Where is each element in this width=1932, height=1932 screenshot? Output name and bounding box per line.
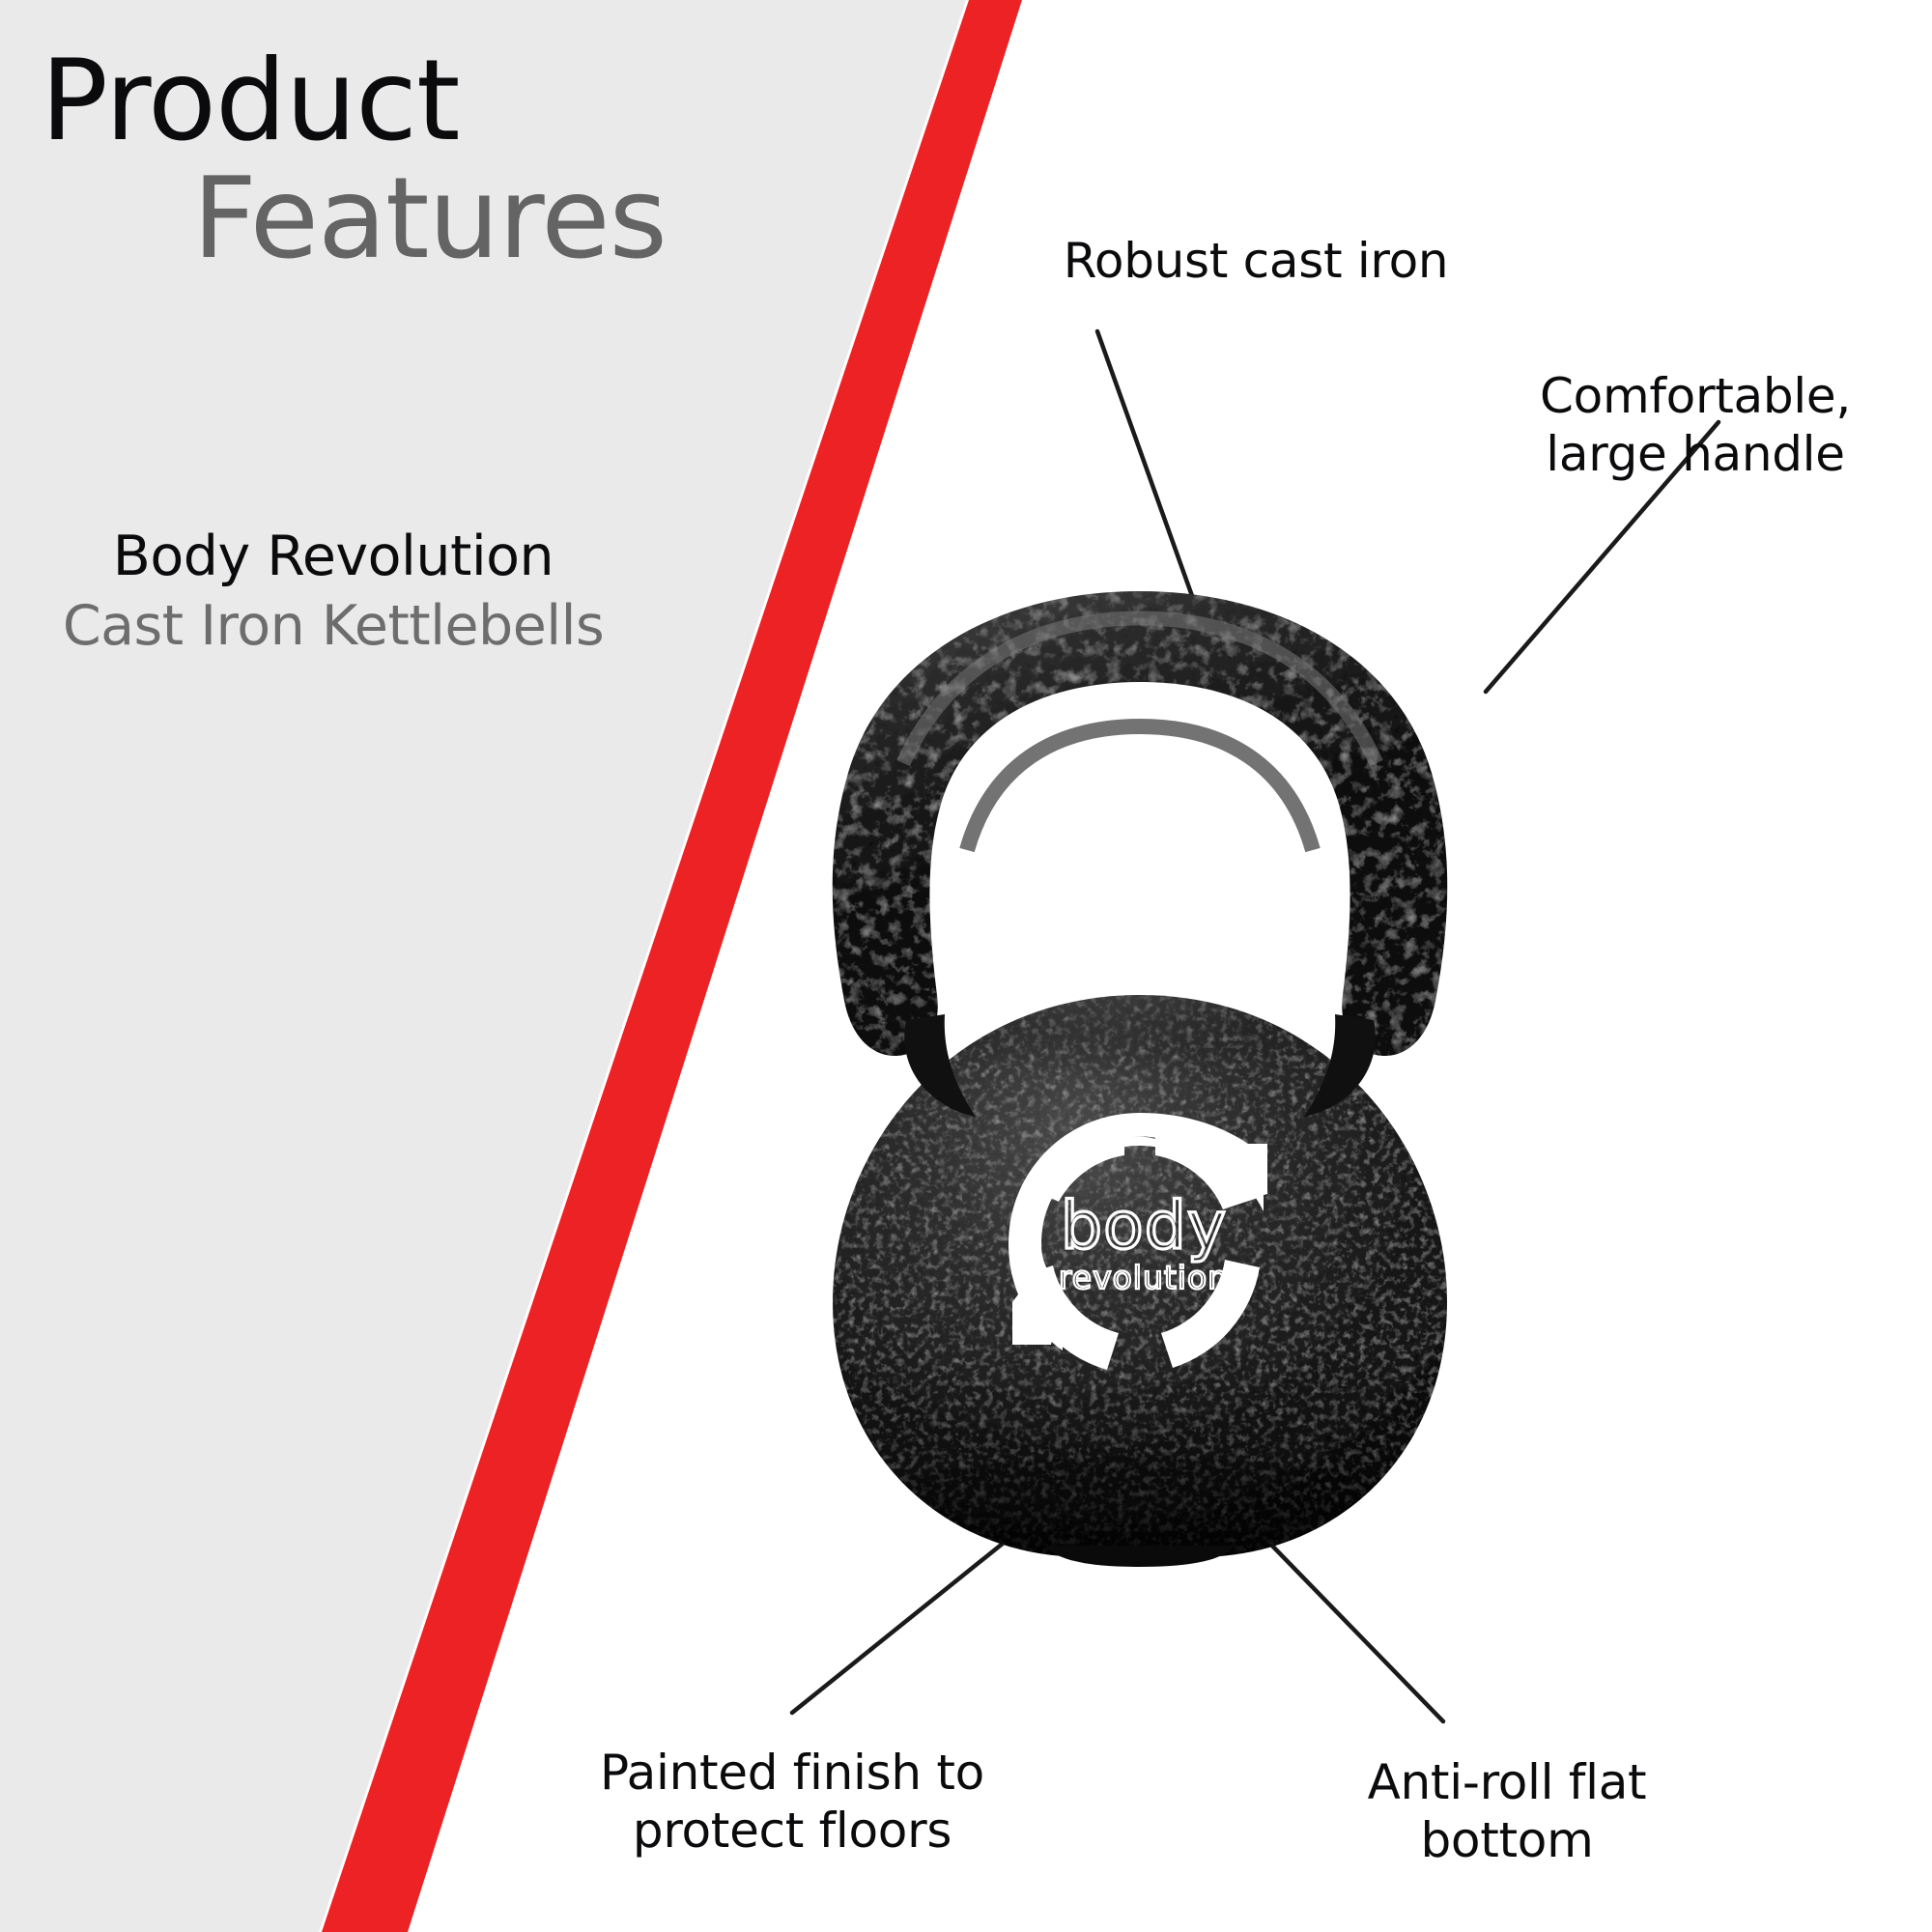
- brand-block: Body Revolution Cast Iron Kettlebells: [0, 526, 667, 658]
- callout-anti-roll-flat-bottom: Anti-roll flat bottom: [1265, 1753, 1748, 1869]
- logo-word-revolution: revolution: [1059, 1259, 1229, 1296]
- callout-robust-line1: Robust cast iron: [1000, 232, 1512, 290]
- callout-painted-finish: Painted finish to protect floors: [512, 1744, 1072, 1860]
- leader-line-robust: [1097, 331, 1201, 620]
- leader-lines: [792, 331, 1719, 1721]
- brand-product-line: Cast Iron Kettlebells: [0, 596, 667, 658]
- callout-robust-cast-iron: Robust cast iron: [1000, 232, 1512, 290]
- leader-line-antiroll: [1233, 1505, 1443, 1721]
- page-title: Product Features: [0, 44, 676, 277]
- kettlebell-graphic: body revolution: [833, 591, 1448, 1567]
- page-title-line1: Product: [0, 44, 676, 158]
- brand-name: Body Revolution: [0, 526, 667, 588]
- callout-antiroll-line1: Anti-roll flat: [1265, 1753, 1748, 1811]
- callout-handle-line1: Comfortable,: [1468, 367, 1922, 425]
- callout-painted-line2: protect floors: [512, 1802, 1072, 1860]
- page-title-line2: Features: [0, 162, 676, 276]
- callout-handle-line2: large handle: [1468, 425, 1922, 483]
- logo-word-body: body: [1061, 1188, 1227, 1264]
- infographic-canvas: Product Features Body Revolution Cast Ir…: [0, 0, 1932, 1932]
- callout-painted-line1: Painted finish to: [512, 1744, 1072, 1802]
- left-gray-panel: [0, 0, 1024, 1932]
- leader-line-painted: [792, 1503, 1053, 1713]
- kettlebell-body: [833, 916, 1447, 1567]
- callout-comfortable-large-handle: Comfortable, large handle: [1468, 367, 1922, 483]
- body-revolution-logo: body revolution: [1009, 1113, 1267, 1370]
- kettlebell-handle: [833, 591, 1448, 1056]
- callout-antiroll-line2: bottom: [1265, 1811, 1748, 1869]
